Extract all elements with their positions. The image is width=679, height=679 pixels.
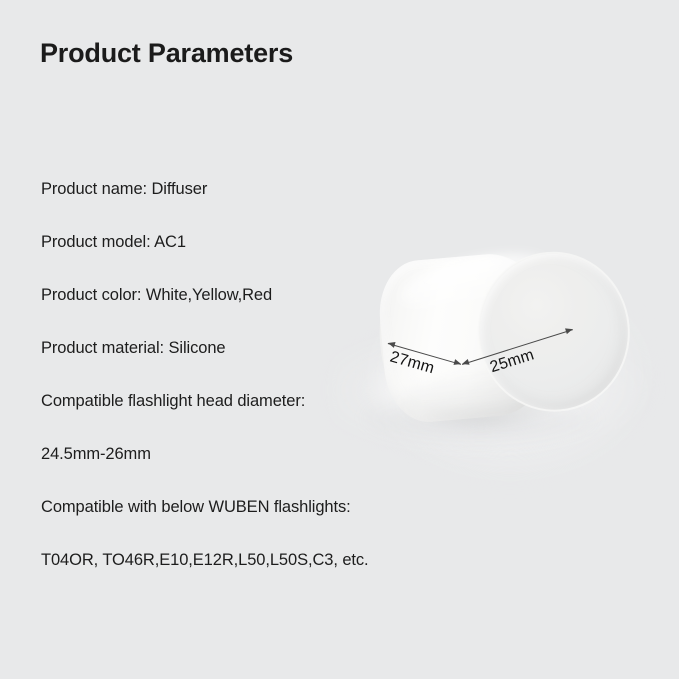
- spec-line-compat-models: T04OR, TO46R,E10,E12R,L50,L50S,C3, etc.: [41, 534, 441, 587]
- product-parameters-page: Product Parameters Product name: Diffuse…: [0, 0, 679, 679]
- page-title: Product Parameters: [40, 35, 293, 71]
- diffuser-cylinder: [375, 243, 589, 432]
- product-photo: 27mm 25mm: [330, 195, 660, 505]
